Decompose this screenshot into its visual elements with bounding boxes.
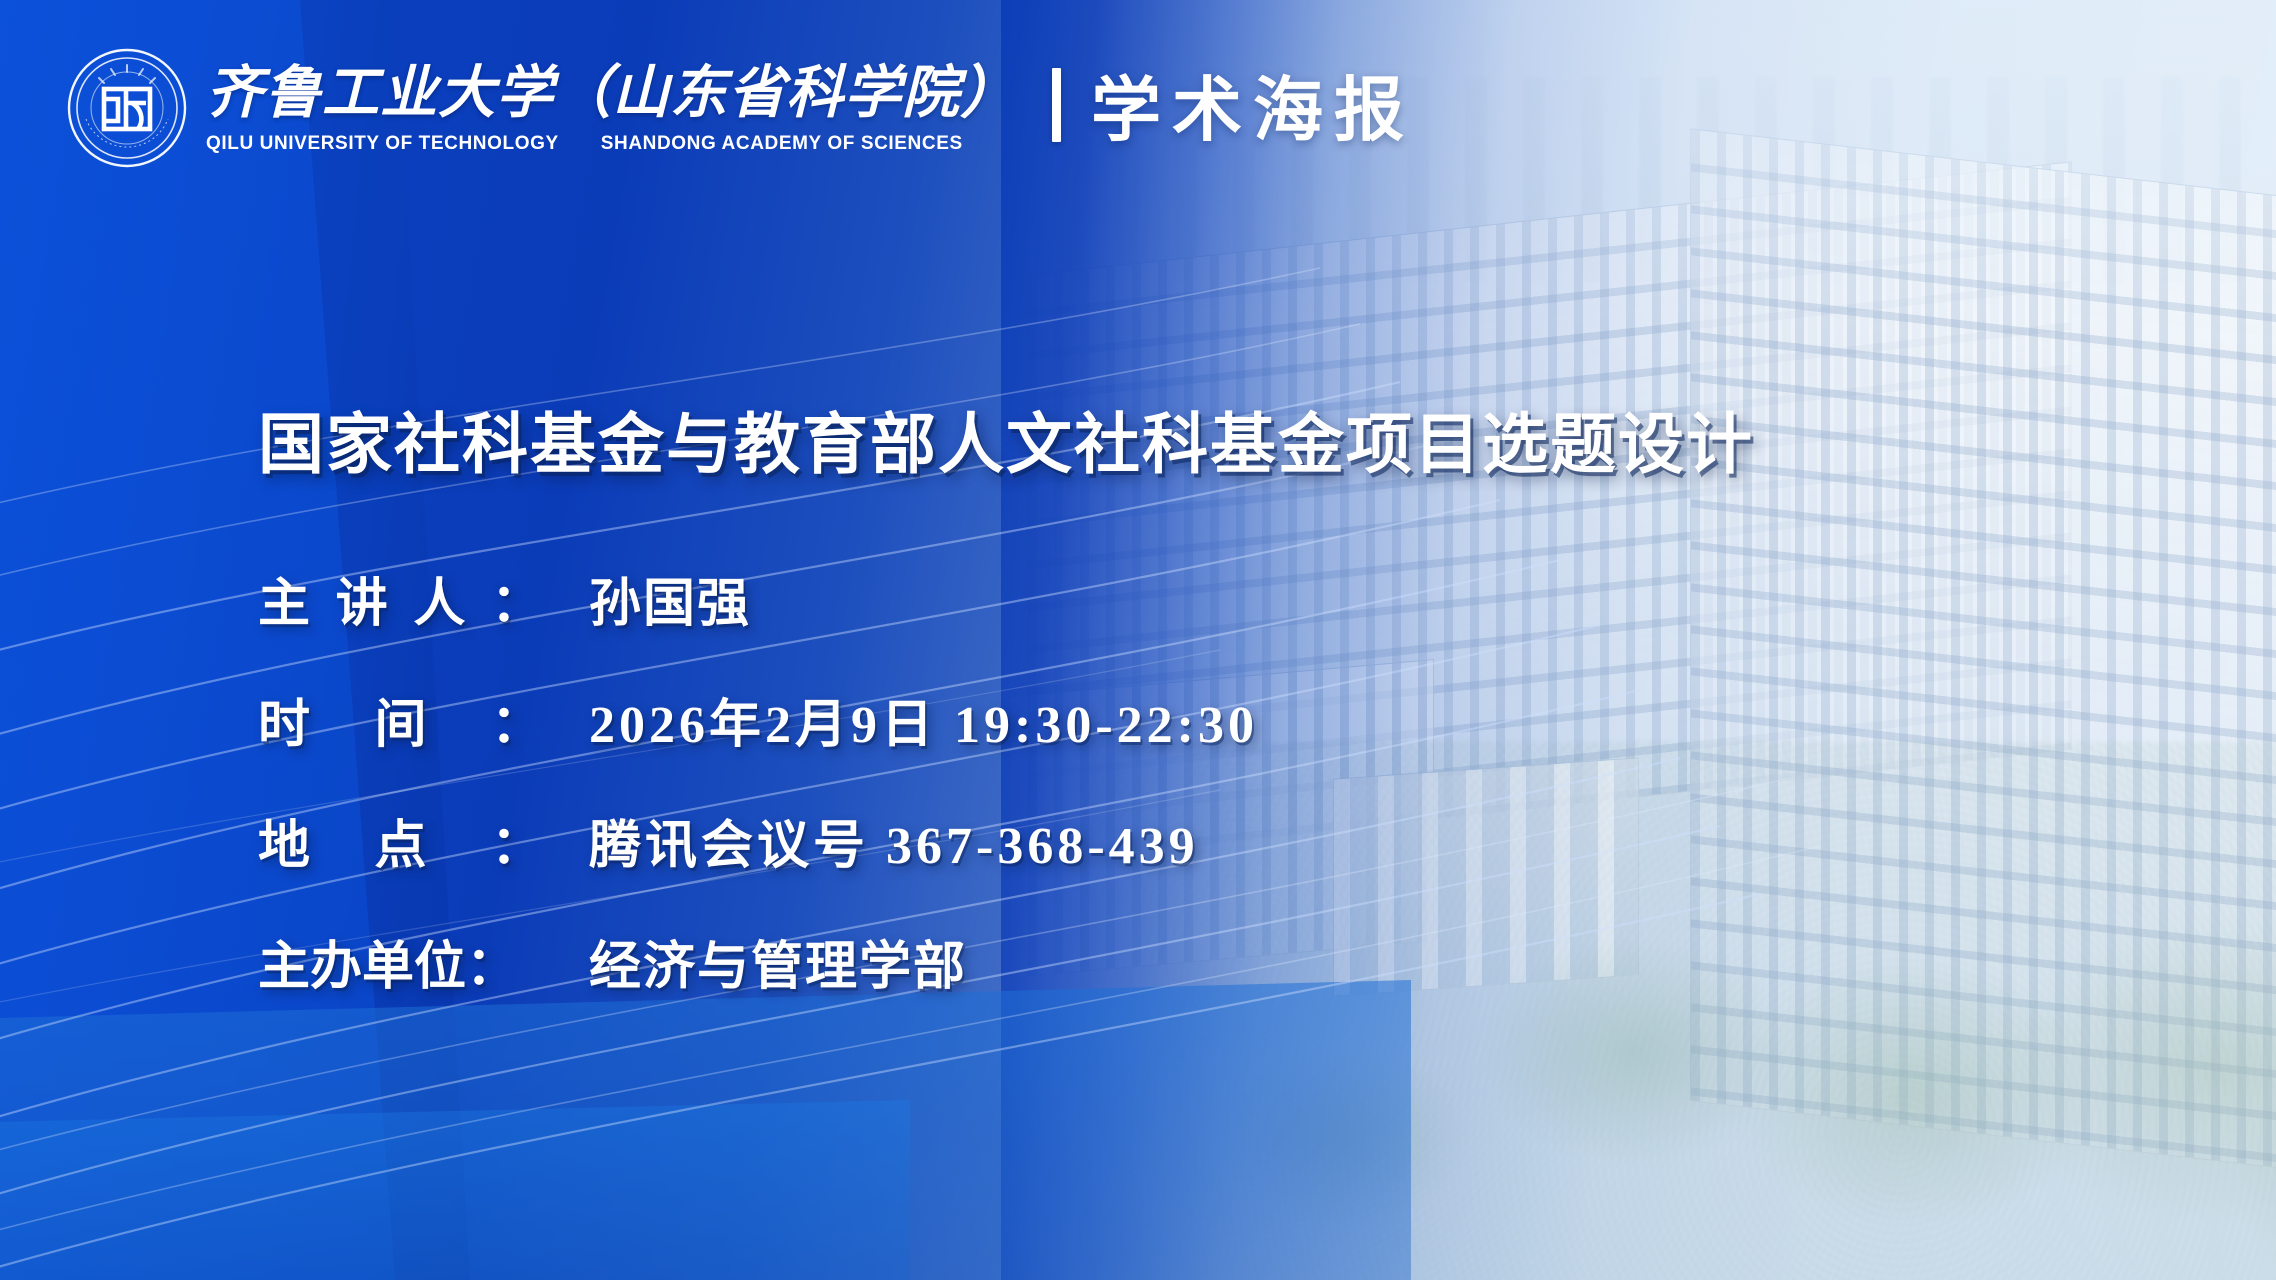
detail-row-datetime: 时间： 2026年2月9日 19:30-22:30: [258, 682, 1754, 757]
detail-label-speaker: 主讲人：: [258, 561, 543, 636]
detail-label-organizer: 主办单位：: [258, 924, 543, 999]
poster-content: 国家社科基金与教育部人文社科基金项目选题设计 主讲人： 孙国强 时间： 2026…: [258, 410, 1754, 999]
detail-row-location: 地点： 腾讯会议号 367-368-439: [258, 803, 1754, 878]
page-title: 国家社科基金与教育部人文社科基金项目选题设计: [258, 410, 1754, 483]
detail-value-organizer: 经济与管理学部: [589, 924, 967, 999]
detail-value-datetime: 2026年2月9日 19:30-22:30: [589, 682, 1258, 757]
detail-label-location: 地点：: [258, 803, 543, 878]
header-kicker-label: 学术海报: [1091, 54, 1415, 155]
detail-label-datetime: 时间：: [258, 682, 543, 757]
university-name-en-line1: QILU UNIVERSITY OF TECHNOLOGY: [206, 133, 559, 155]
event-details-list: 主讲人： 孙国强 时间： 2026年2月9日 19:30-22:30 地点： 腾…: [258, 561, 1754, 999]
academic-poster: 齐鲁工业大学（山东省科学院） QILU UNIVERSITY OF TECHNO…: [0, 0, 2276, 1280]
university-name-en-line2: SHANDONG ACADEMY OF SCIENCES: [601, 133, 963, 155]
university-wordmark: 齐鲁工业大学（山东省科学院） QILU UNIVERSITY OF TECHNO…: [206, 61, 1018, 155]
poster-header: 齐鲁工业大学（山东省科学院） QILU UNIVERSITY OF TECHNO…: [0, 0, 2276, 215]
detail-row-organizer: 主办单位： 经济与管理学部: [258, 924, 1754, 999]
detail-value-location: 腾讯会议号 367-368-439: [589, 803, 1199, 878]
lower-light-band-inner: [0, 1100, 910, 1280]
header-divider-bar: [1052, 68, 1061, 142]
detail-value-speaker: 孙国强: [589, 561, 751, 636]
detail-row-speaker: 主讲人： 孙国强: [258, 561, 1754, 636]
university-name-en: QILU UNIVERSITY OF TECHNOLOGY SHANDONG A…: [206, 133, 1018, 155]
university-seal-icon: [66, 47, 188, 169]
university-name-cn: 齐鲁工业大学（山东省科学院）: [206, 65, 1018, 122]
